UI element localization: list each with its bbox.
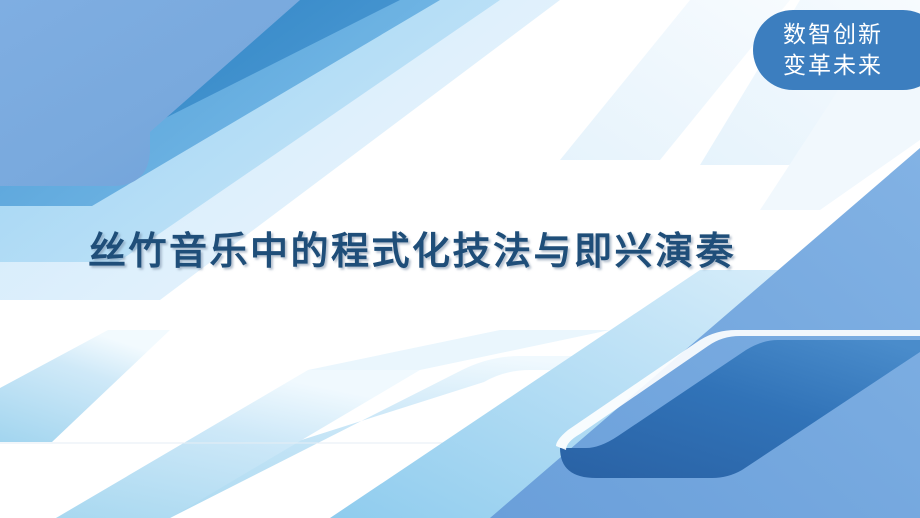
- slide-canvas: 数智创新 变革未来 丝竹音乐中的程式化技法与即兴演奏: [0, 0, 920, 518]
- decor-bottom-left-stripe-upper: [0, 330, 170, 442]
- badge-line-1: 数智创新: [783, 19, 917, 50]
- badge-line-2: 变革未来: [783, 50, 917, 81]
- corner-badge: 数智创新 变革未来: [753, 10, 920, 90]
- slide-title: 丝竹音乐中的程式化技法与即兴演奏: [88, 228, 736, 276]
